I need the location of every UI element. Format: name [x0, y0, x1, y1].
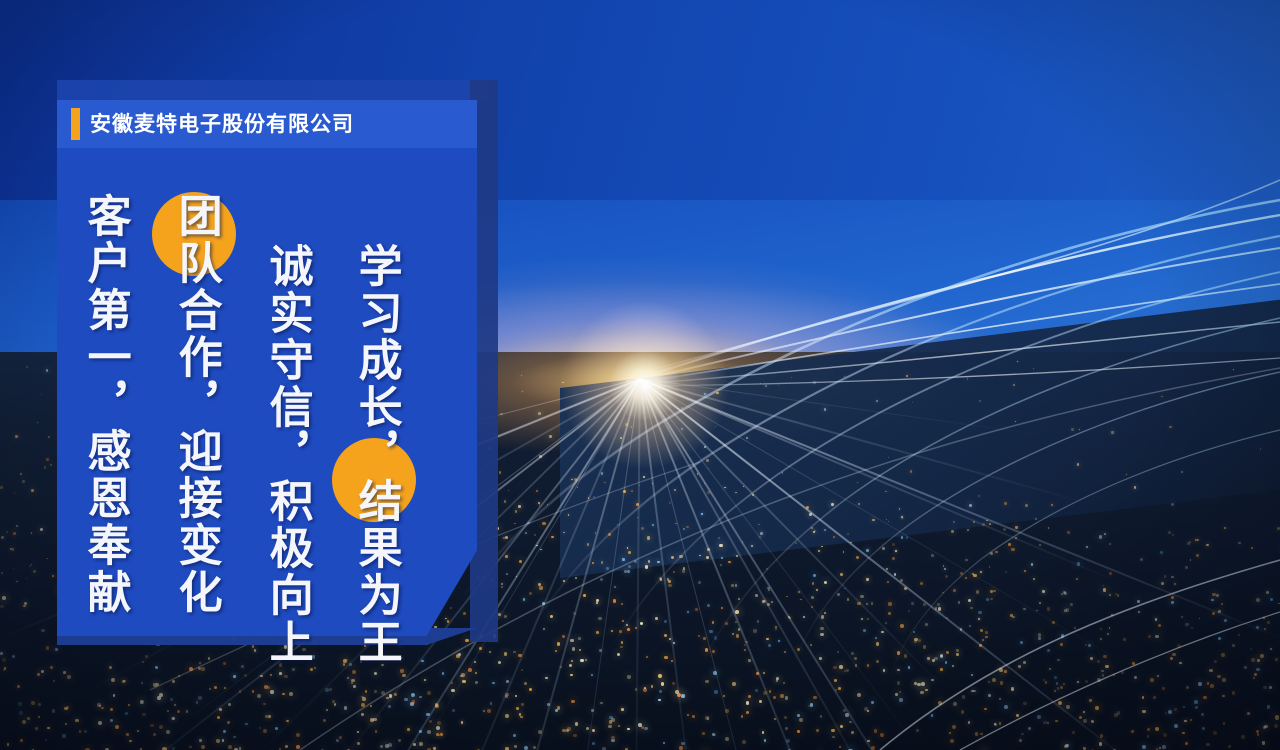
accent-bar-icon — [71, 108, 80, 140]
slogan-column-1: 客户第一，感恩奉献 — [81, 193, 128, 616]
values-panel-group: 安徽麦特电子股份有限公司 客户第一，感恩奉献 团队合作，迎接变化 诚实守信，积极… — [0, 0, 1280, 750]
company-name: 安徽麦特电子股份有限公司 — [90, 107, 470, 141]
slide-canvas: 安徽麦特电子股份有限公司 客户第一，感恩奉献 团队合作，迎接变化 诚实守信，积极… — [0, 0, 1280, 750]
slogan-column-4: 学习成长，结果为王 — [352, 243, 399, 666]
panel-top-strip — [57, 80, 489, 102]
slogan-column-2: 团队合作，迎接变化 — [172, 193, 219, 616]
slogan-column-3: 诚实守信，积极向上 — [263, 243, 310, 666]
